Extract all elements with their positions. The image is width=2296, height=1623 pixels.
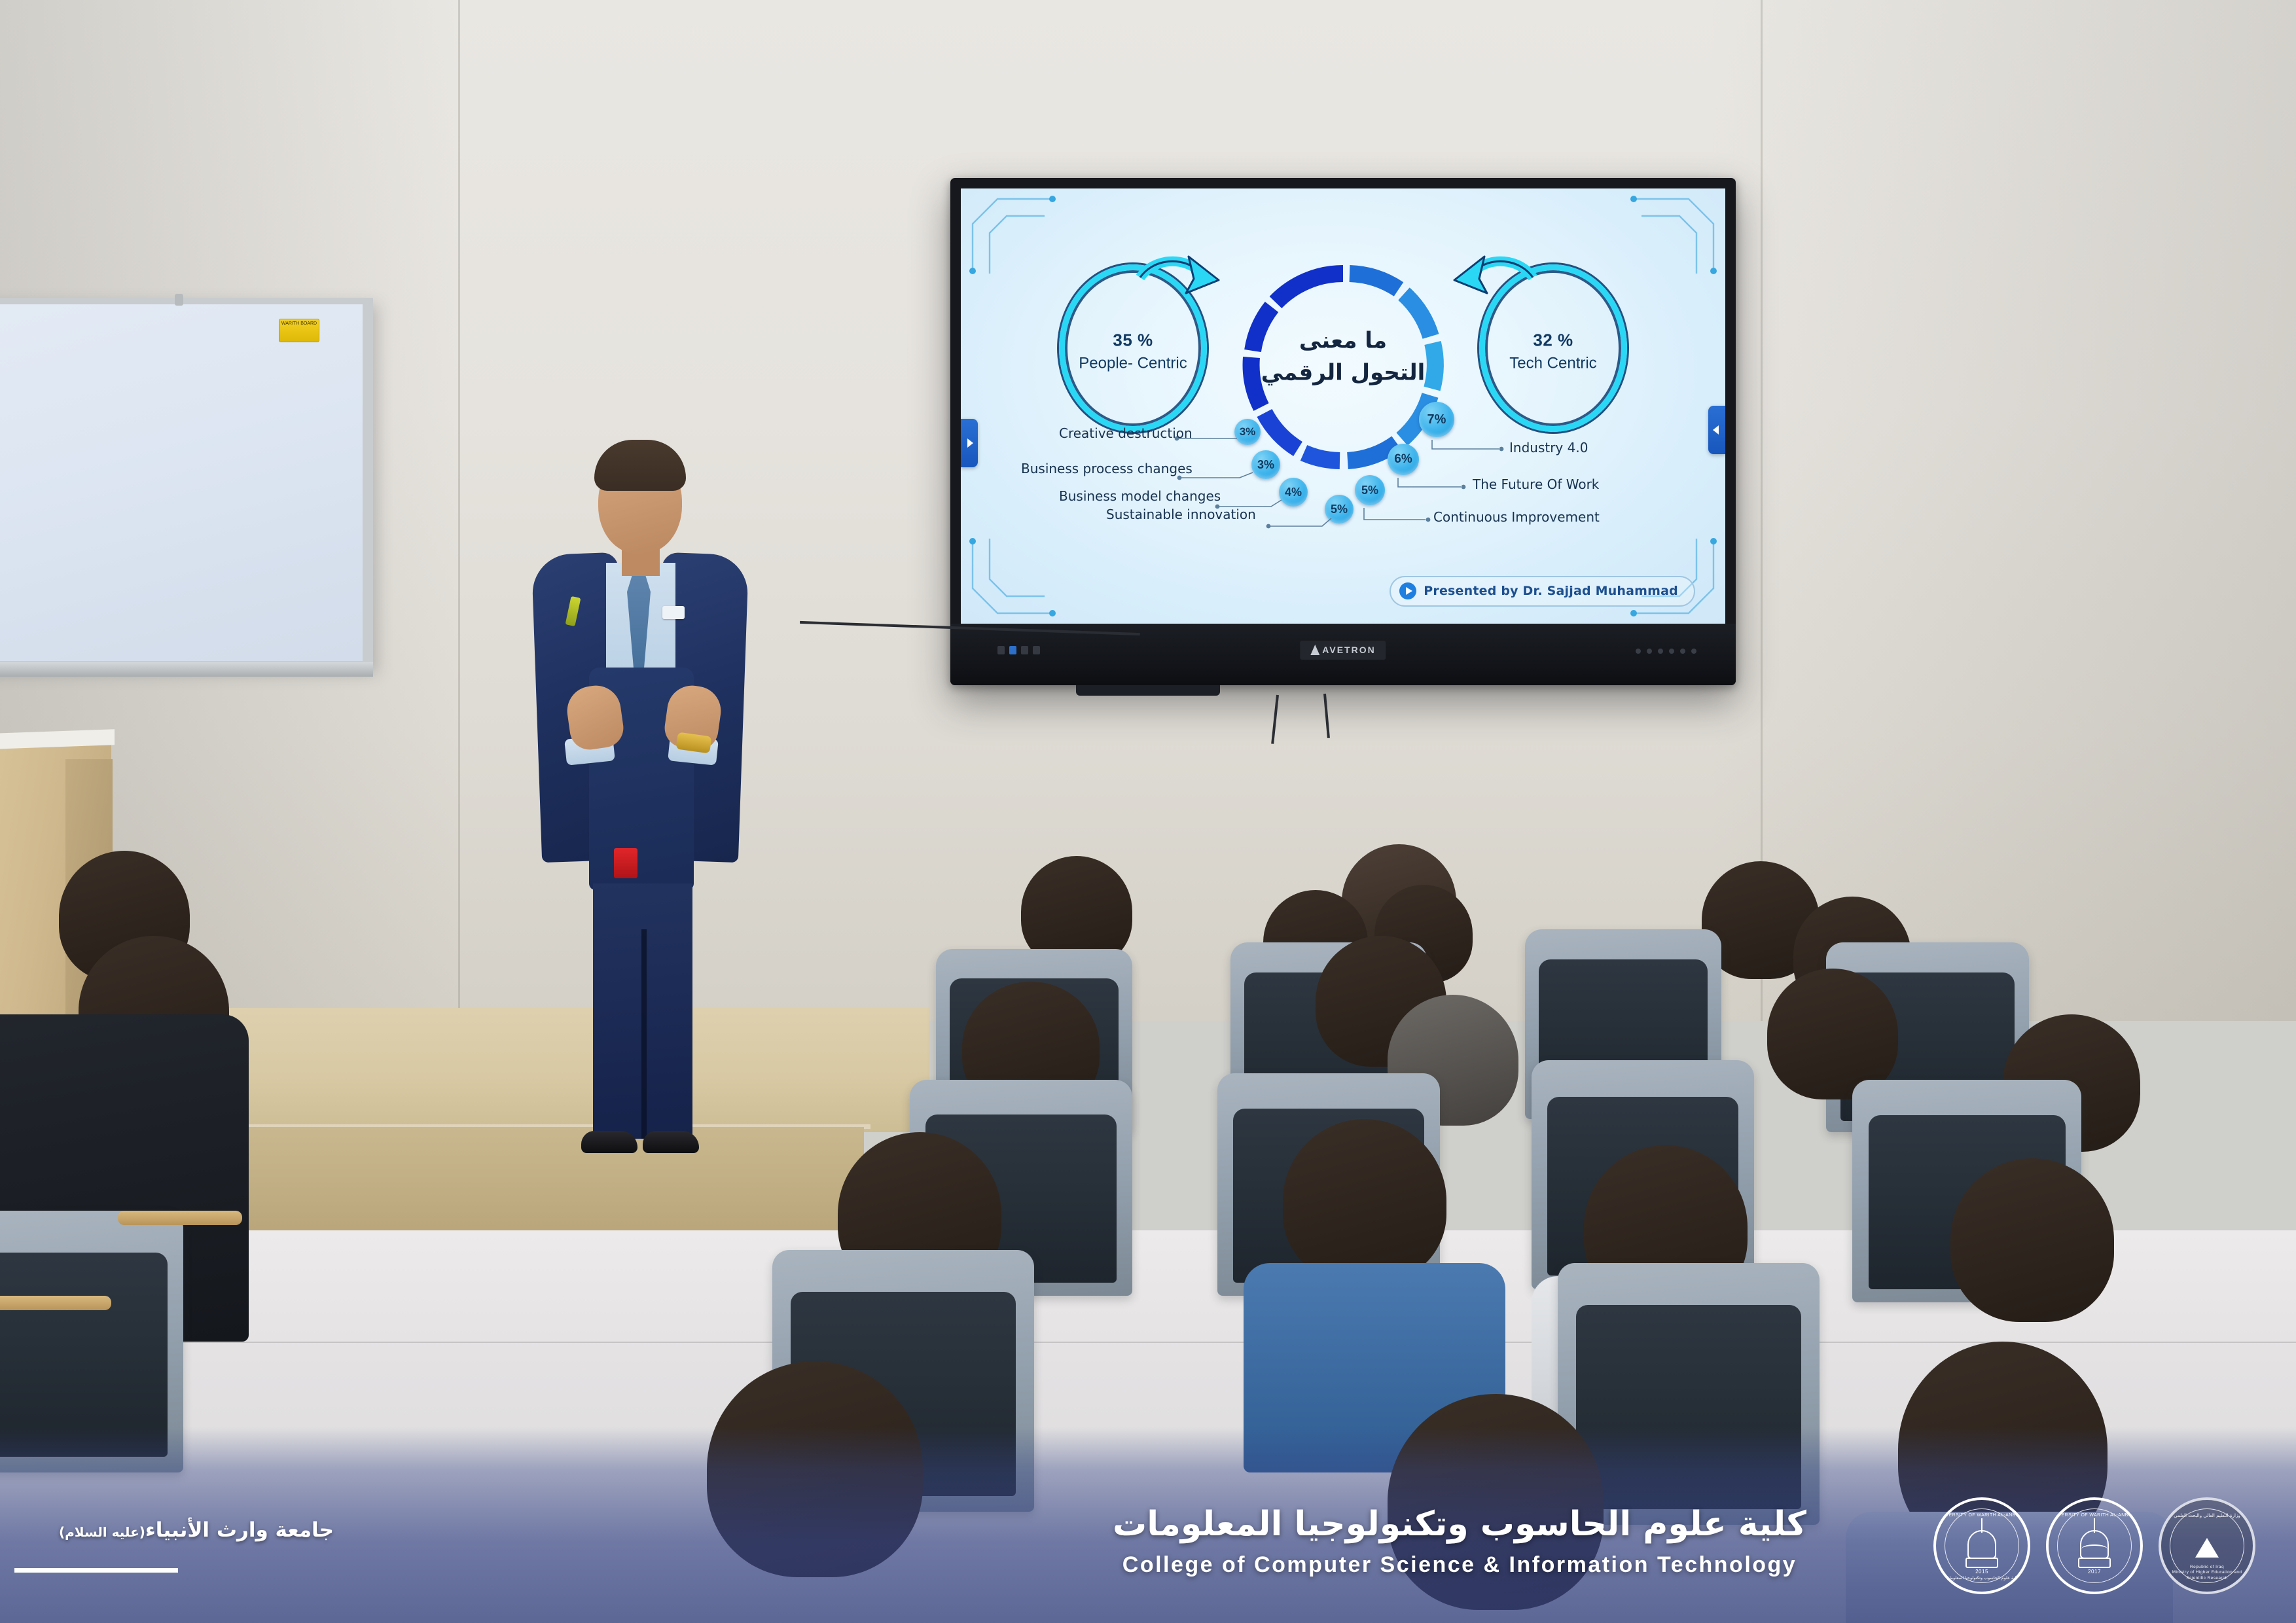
bubble-industry-40: 7%	[1419, 402, 1454, 437]
name-badge	[662, 606, 685, 619]
seal-ring-text: UNIVERSITY OF WARITH AL-ANBIYAA	[1936, 1513, 2028, 1518]
key-power[interactable]	[1636, 649, 1641, 654]
university-name-honorific: (عليه السلام)	[59, 1524, 145, 1540]
leader-sustainable-innovation	[1266, 514, 1339, 529]
brand-logo-icon	[1310, 645, 1319, 655]
label-the-future-of-work: The Future Of Work	[1473, 476, 1599, 492]
college-name-block: كلية علوم الحاسوب وتكنولوجيا المعلومات C…	[1073, 1505, 1846, 1578]
key-volume-down[interactable]	[1669, 649, 1674, 654]
seal-year: 2017	[2088, 1569, 2101, 1575]
center-title-line1: ما معنى	[1245, 325, 1441, 357]
seal-emblem-icon	[1962, 1522, 2002, 1569]
center-title: ما معنى التحول الرقمي	[1245, 325, 1441, 390]
audience-head	[1283, 1119, 1446, 1283]
college-name-english: College of Computer Science & Informatio…	[1073, 1552, 1846, 1578]
play-icon	[1399, 582, 1416, 599]
port-usb3	[1009, 646, 1016, 654]
display-control-keys[interactable]	[1636, 649, 1696, 654]
tech-centric-percent: 32 %	[1479, 330, 1627, 351]
cycle-arrow-left-icon	[1138, 250, 1227, 321]
key-home[interactable]	[1691, 649, 1696, 654]
key-volume-up[interactable]	[1680, 649, 1685, 654]
people-centric-caption: People- Centric	[1059, 355, 1207, 373]
label-industry-40: Industry 4.0	[1509, 440, 1588, 455]
key-menu[interactable]	[1647, 649, 1652, 654]
seal-university-cs: UNIVERSITY OF WARITH AL-ANBIYAA 2015 كلي…	[1933, 1497, 2030, 1594]
people-centric-circle: 35 % People- Centric	[1059, 264, 1207, 432]
seal-university-main: UNIVERSITY OF WARITH AL-ANBIYAA 2017	[2046, 1497, 2143, 1594]
label-creative-destruction: Creative destruction	[1059, 425, 1193, 441]
display-wall-mount	[1076, 685, 1220, 696]
chair-armrest	[0, 1296, 111, 1310]
panel-sidebar-toggle-left[interactable]	[961, 419, 978, 467]
presenter-credit-badge: Presented by Dr. Sajjad Muhammad	[1390, 576, 1695, 607]
leader-the-future-of-work	[1395, 475, 1467, 492]
seal-arabic-text: وزارة التعليم العالي والبحث العلمي	[2161, 1513, 2253, 1518]
presenter-credit-text: Presented by Dr. Sajjad Muhammad	[1424, 584, 1678, 598]
chevron-left-icon	[1713, 425, 1719, 435]
seal-emblem-icon	[2074, 1522, 2115, 1569]
key-source[interactable]	[1658, 649, 1663, 654]
display-brand-plate: AVETRON	[1300, 641, 1386, 660]
label-business-process-changes: Business process changes	[1021, 461, 1193, 476]
chair-armrest	[118, 1211, 242, 1225]
label-sustainable-innovation: Sustainable innovation	[1106, 507, 1256, 522]
whiteboard-marker-tray	[0, 662, 373, 677]
port-usb	[997, 646, 1005, 654]
display-brand-name: AVETRON	[1322, 645, 1375, 655]
bubble-the-future-of-work: 6%	[1388, 444, 1419, 475]
display-ports	[997, 646, 1040, 654]
tech-centric-caption: Tech Centric	[1479, 355, 1627, 373]
port-hdmi	[1021, 646, 1028, 654]
seal-emblem-icon	[2187, 1522, 2227, 1569]
institutional-seals: UNIVERSITY OF WARITH AL-ANBIYAA 2015 كلي…	[1933, 1497, 2255, 1594]
people-centric-percent: 35 %	[1059, 330, 1207, 351]
university-name-left: جامعة وارث الأنبياء(عليه السلام)	[26, 1518, 334, 1542]
branding-banner: جامعة وارث الأنبياء(عليه السلام) كلية عل…	[0, 1427, 2296, 1623]
tech-centric-label: 32 % Tech Centric	[1479, 330, 1627, 373]
seal-ring-text: UNIVERSITY OF WARITH AL-ANBIYAA	[2049, 1513, 2140, 1518]
people-centric-label: 35 % People- Centric	[1059, 330, 1207, 373]
presentation-slide: 35 % People- Centric 32 % Tech Centric	[961, 188, 1725, 624]
port-aux	[1033, 646, 1040, 654]
panel-sidebar-toggle-right[interactable]	[1708, 406, 1725, 454]
seal-sub-text: Republic of Iraq Ministry of Higher Educ…	[2161, 1565, 2253, 1582]
seal-sub-text: كلية علوم الحاسوب وتكنولوجيا المعلومات	[1936, 1576, 2028, 1582]
chevron-right-icon	[967, 438, 973, 448]
leader-continuous-improvement	[1361, 505, 1433, 525]
seal-ministry-higher-education: وزارة التعليم العالي والبحث العلمي Repub…	[2159, 1497, 2255, 1594]
college-name-arabic: كلية علوم الحاسوب وتكنولوجيا المعلومات	[1073, 1505, 1846, 1544]
leader-industry-40	[1429, 437, 1505, 454]
tech-centric-circle: 32 % Tech Centric	[1479, 264, 1627, 432]
display-screen[interactable]: 35 % People- Centric 32 % Tech Centric	[961, 188, 1725, 624]
label-continuous-improvement: Continuous Improvement	[1433, 509, 1600, 525]
whiteboard-hook	[175, 294, 183, 306]
label-business-model-changes: Business model changes	[1059, 488, 1221, 504]
hair	[594, 440, 686, 491]
audience-head	[1950, 1158, 2114, 1322]
banner-divider-rule	[14, 1568, 178, 1573]
university-name-main: جامعة وارث الأنبياء	[145, 1518, 334, 1542]
cycle-arrow-right-icon	[1446, 250, 1535, 321]
whiteboard: WARITH BOARD	[0, 298, 373, 668]
seal-year: 2015	[1975, 1569, 1988, 1575]
bubble-continuous-improvement: 5%	[1355, 475, 1385, 505]
interactive-display-panel[interactable]: 35 % People- Centric 32 % Tech Centric	[950, 178, 1736, 685]
center-title-line2: التحول الرقمي	[1245, 357, 1441, 389]
whiteboard-sticker: WARITH BOARD	[279, 319, 319, 342]
